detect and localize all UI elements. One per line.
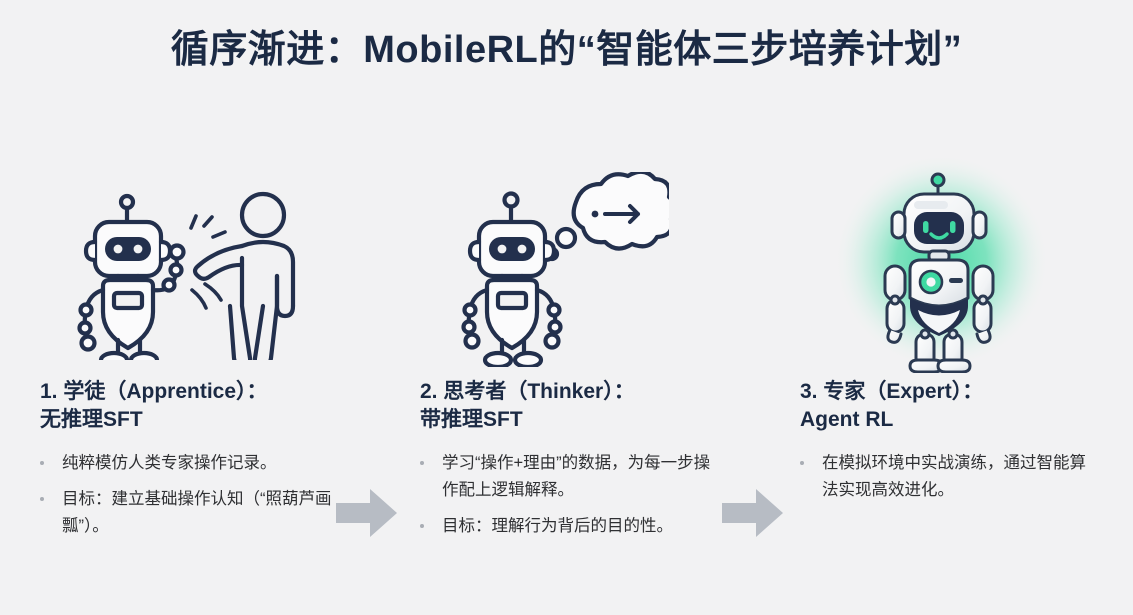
bullet-dot-icon — [40, 497, 44, 501]
bullet-dot-icon — [40, 461, 44, 465]
bullet-dot-icon — [420, 524, 424, 528]
arrow-stage-2-to-3-icon — [722, 487, 784, 539]
list-item: 学习“操作+理由”的数据，为每一步操作配上逻辑解释。 — [412, 450, 712, 504]
stage-heading-apprentice: 1. 学徒（Apprentice）： 无推理SFT — [40, 378, 332, 434]
illustration-glowing-robot — [792, 150, 1092, 378]
illustration-robot-thought-bubble — [412, 150, 712, 378]
stages-container: 1. 学徒（Apprentice）： 无推理SFT 纯粹模仿人类专家操作记录。 … — [0, 150, 1133, 615]
stage-card-thinker: 2. 思考者（Thinker）： 带推理SFT 学习“操作+理由”的数据，为每一… — [412, 150, 712, 615]
list-item: 目标：建立基础操作认知（“照葫芦画瓢”）。 — [32, 486, 332, 540]
stage-bullets-apprentice: 纯粹模仿人类专家操作记录。 目标：建立基础操作认知（“照葫芦画瓢”）。 — [32, 450, 332, 541]
arrow-stage-1-to-2-icon — [336, 487, 398, 539]
illustration-robot-high-five-human — [32, 150, 332, 378]
stage-bullets-thinker: 学习“操作+理由”的数据，为每一步操作配上逻辑解释。 目标：理解行为背后的目的性… — [412, 450, 712, 541]
page-title: 循序渐进：MobileRL的“智能体三步培养计划” — [0, 18, 1133, 73]
stage-card-apprentice: 1. 学徒（Apprentice）： 无推理SFT 纯粹模仿人类专家操作记录。 … — [32, 150, 332, 615]
list-item: 目标：理解行为背后的目的性。 — [412, 513, 712, 540]
list-item: 在模拟环境中实战演练，通过智能算法实现高效进化。 — [792, 450, 1092, 504]
bullet-dot-icon — [800, 461, 804, 465]
bullet-dot-icon — [420, 461, 424, 465]
stage-heading-expert: 3. 专家（Expert）： Agent RL — [800, 378, 1092, 434]
stage-bullets-expert: 在模拟环境中实战演练，通过智能算法实现高效进化。 — [792, 450, 1092, 504]
list-item: 纯粹模仿人类专家操作记录。 — [32, 450, 332, 477]
stage-heading-thinker: 2. 思考者（Thinker）： 带推理SFT — [420, 378, 712, 434]
stage-card-expert: 3. 专家（Expert）： Agent RL 在模拟环境中实战演练，通过智能算… — [792, 150, 1092, 615]
